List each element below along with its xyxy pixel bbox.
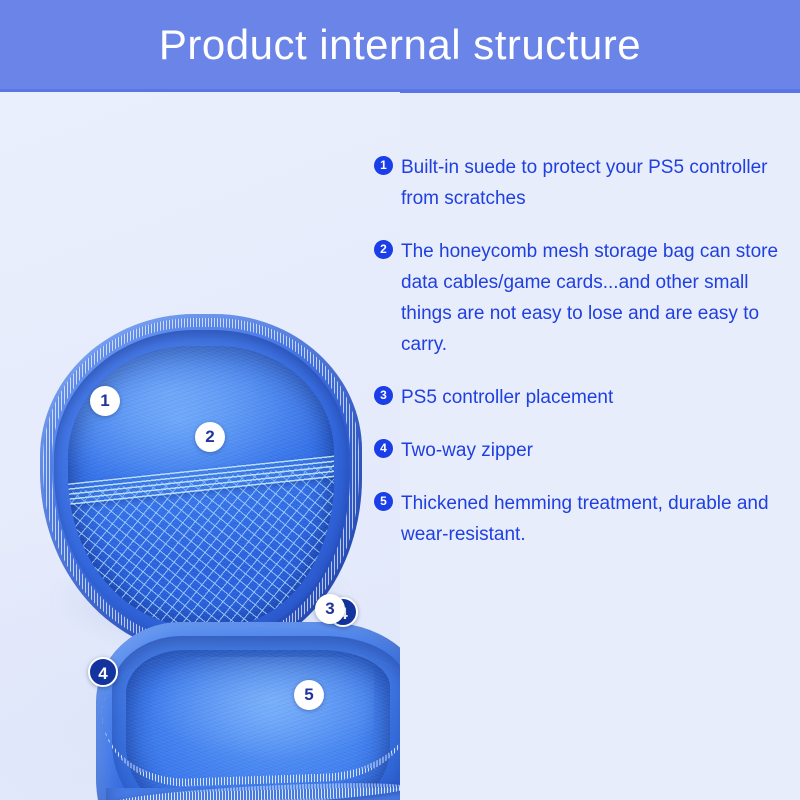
base-zipper — [100, 651, 400, 790]
bullet-badge-2: 2 — [374, 240, 393, 259]
feature-text-1: Built-in suede to protect your PS5 contr… — [401, 152, 784, 214]
photo-marker-5: 5 — [294, 680, 324, 710]
photo-marker-1: 1 — [90, 386, 120, 416]
product-photo: 1 2 4 4 3 5 — [0, 92, 400, 800]
bullet-badge-5: 5 — [374, 492, 393, 511]
page-title: Product internal structure — [159, 24, 641, 66]
case-base — [96, 622, 400, 800]
bullet-badge-4: 4 — [374, 439, 393, 458]
case-lid — [40, 314, 362, 654]
feature-item: 5 Thickened hemming treatment, durable a… — [374, 488, 784, 550]
feature-item: 4 Two-way zipper — [374, 435, 784, 466]
feature-text-5: Thickened hemming treatment, durable and… — [401, 488, 784, 550]
photo-marker-4-left: 4 — [88, 657, 118, 687]
feature-text-4: Two-way zipper — [401, 435, 533, 466]
bullet-badge-3: 3 — [374, 386, 393, 405]
feature-item: 1 Built-in suede to protect your PS5 con… — [374, 152, 784, 214]
bullet-badge-1: 1 — [374, 156, 393, 175]
feature-item: 3 PS5 controller placement — [374, 382, 784, 413]
header-banner: Product internal structure — [0, 0, 800, 89]
feature-text-2: The honeycomb mesh storage bag can store… — [401, 236, 784, 360]
feature-item: 2 The honeycomb mesh storage bag can sto… — [374, 236, 784, 360]
feature-text-3: PS5 controller placement — [401, 382, 613, 413]
infographic-page: Product internal structure — [0, 0, 800, 800]
photo-marker-2: 2 — [195, 422, 225, 452]
feature-list: 1 Built-in suede to protect your PS5 con… — [374, 152, 784, 550]
photo-marker-3: 3 — [315, 594, 345, 624]
